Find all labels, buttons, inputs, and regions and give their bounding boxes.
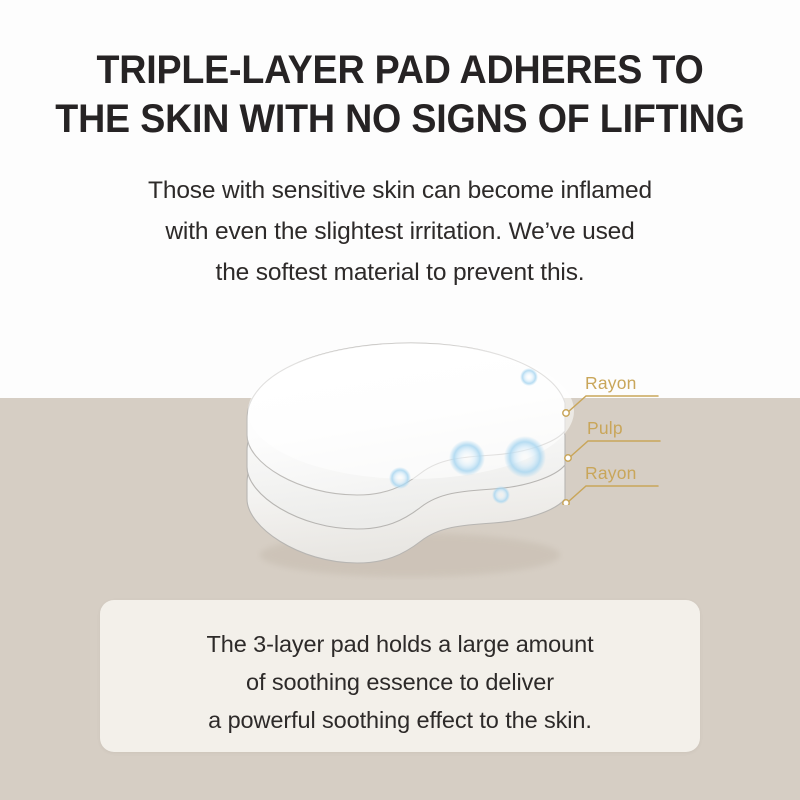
callout-marker-1	[563, 410, 569, 416]
bubble-icon	[520, 368, 538, 386]
callout-leader-1	[568, 396, 658, 412]
info-card-text: The 3-layer pad holds a large amount of …	[100, 625, 700, 739]
info-card-line-2: of soothing essence to deliver	[100, 663, 700, 701]
callout-leader-3	[568, 486, 658, 502]
headline: TRIPLE-LAYER PAD ADHERES TO THE SKIN WIT…	[24, 46, 776, 144]
callout-label-pulp: Pulp	[587, 418, 623, 439]
callout-group: Rayon Pulp Rayon	[540, 360, 740, 505]
bubble-icon	[492, 486, 510, 504]
callout-marker-3	[563, 500, 569, 505]
info-card-line-3: a powerful soothing effect to the skin.	[100, 701, 700, 739]
callout-leader-2	[570, 441, 660, 457]
bubble-icon	[389, 467, 411, 489]
headline-line-2: THE SKIN WITH NO SIGNS OF LIFTING	[24, 95, 776, 144]
info-card-line-1: The 3-layer pad holds a large amount	[100, 625, 700, 663]
callout-marker-2	[565, 455, 571, 461]
bubble-icon	[449, 440, 485, 476]
subtitle-line-2: with even the slightest irritation. We’v…	[0, 211, 800, 252]
product-detail-page: TRIPLE-LAYER PAD ADHERES TO THE SKIN WIT…	[0, 0, 800, 800]
headline-line-1: TRIPLE-LAYER PAD ADHERES TO	[24, 46, 776, 95]
subtitle: Those with sensitive skin can become inf…	[0, 170, 800, 293]
info-card: The 3-layer pad holds a large amount of …	[100, 600, 700, 752]
callout-label-rayon-top: Rayon	[585, 373, 637, 394]
subtitle-line-3: the softest material to prevent this.	[0, 252, 800, 293]
callout-label-rayon-bottom: Rayon	[585, 463, 637, 484]
subtitle-line-1: Those with sensitive skin can become inf…	[0, 170, 800, 211]
